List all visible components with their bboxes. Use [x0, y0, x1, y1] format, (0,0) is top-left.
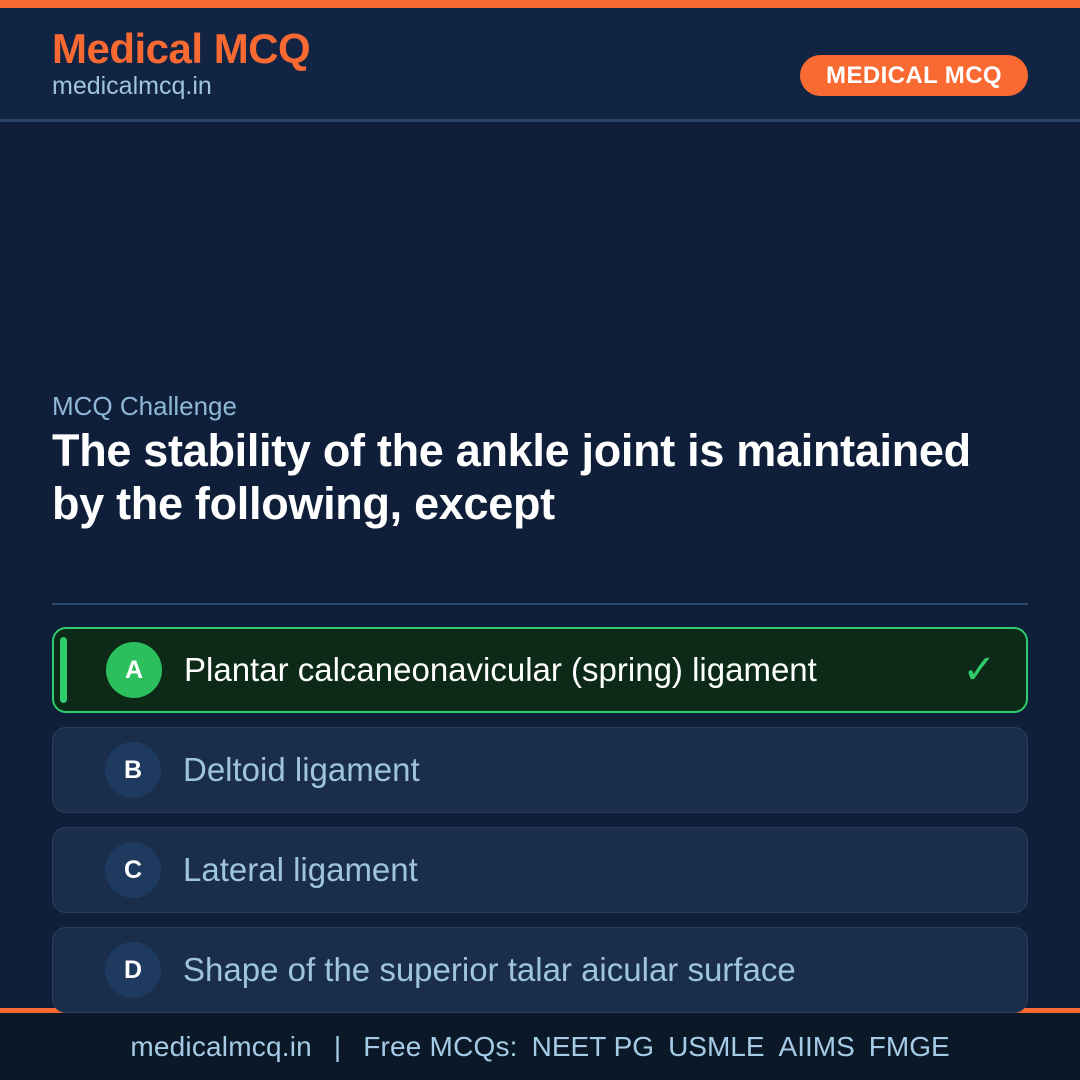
footer-site: medicalmcq.in	[130, 1031, 312, 1063]
option-letter-badge: B	[105, 742, 161, 798]
question-body: MCQ Challenge The stability of the ankle…	[0, 122, 1080, 1008]
footer-tag-aiims: AIIMS	[765, 1031, 855, 1063]
option-label: Plantar calcaneonavicular (spring) ligam…	[184, 652, 817, 688]
option-label: Deltoid ligament	[183, 752, 420, 788]
option-letter-badge: D	[105, 942, 161, 998]
mcq-card: Medical MCQ medicalmcq.in MEDICAL MCQ MC…	[0, 0, 1080, 1080]
footer-tag-neet-pg: NEET PG	[518, 1031, 654, 1063]
footer-separator: |	[312, 1031, 363, 1063]
section-divider	[52, 603, 1028, 605]
option-d[interactable]: D Shape of the superior talar aicular su…	[52, 927, 1028, 1013]
option-letter-badge: A	[106, 642, 162, 698]
option-c[interactable]: C Lateral ligament	[52, 827, 1028, 913]
option-label: Shape of the superior talar aicular surf…	[183, 952, 796, 988]
header-badge: MEDICAL MCQ	[800, 55, 1028, 96]
brand-subtitle: medicalmcq.in	[52, 73, 310, 101]
footer-tag-fmge: FMGE	[855, 1031, 950, 1063]
brand-title: Medical MCQ	[52, 27, 310, 71]
correct-accent-bar	[60, 637, 67, 703]
footer-label: Free MCQs:	[363, 1031, 517, 1063]
brand-block: Medical MCQ medicalmcq.in	[52, 27, 310, 101]
eyebrow-label: MCQ Challenge	[52, 392, 237, 421]
page-footer: medicalmcq.in | Free MCQs: NEET PG USMLE…	[0, 1008, 1080, 1080]
option-label: Lateral ligament	[183, 852, 418, 888]
options-list: A Plantar calcaneonavicular (spring) lig…	[52, 627, 1028, 1013]
check-icon: ✓	[962, 650, 1000, 690]
top-accent-rule	[0, 0, 1080, 8]
page-header: Medical MCQ medicalmcq.in MEDICAL MCQ	[0, 8, 1080, 122]
option-a[interactable]: A Plantar calcaneonavicular (spring) lig…	[52, 627, 1028, 713]
page-title: The stability of the ankle joint is main…	[52, 424, 1012, 530]
option-b[interactable]: B Deltoid ligament	[52, 727, 1028, 813]
footer-tag-usmle: USMLE	[654, 1031, 764, 1063]
option-letter-badge: C	[105, 842, 161, 898]
